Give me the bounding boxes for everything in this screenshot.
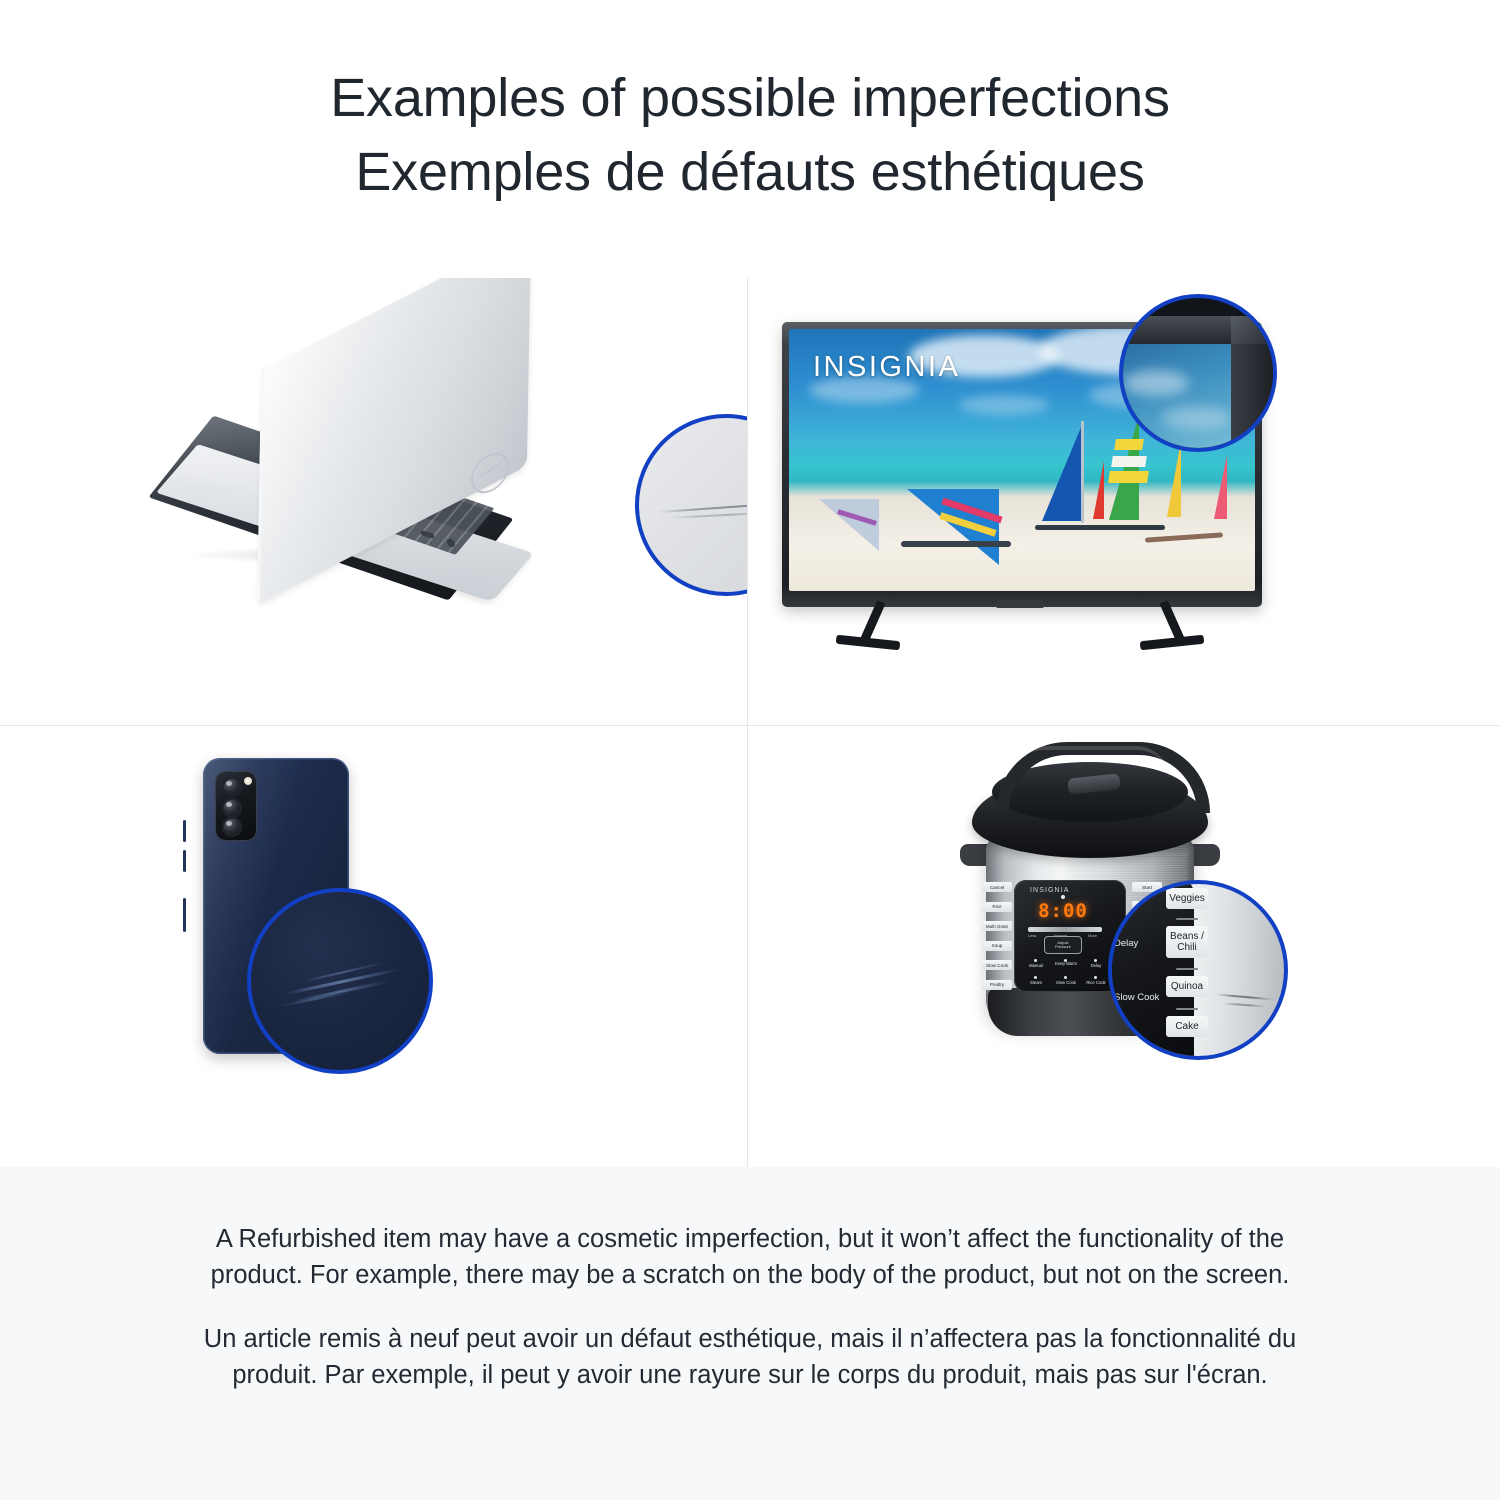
sail-icon [1093,461,1104,519]
boat-hull [901,541,1011,547]
camera-lens-icon [222,777,242,797]
cooker-panel-key[interactable]: Keep Warm [1054,962,1078,967]
cooker-indicator-dot [1034,976,1037,979]
phone-volume-button [183,820,187,842]
pressure-cooker-graphic: Cancel Rice Multi Grain Soup Slow Cook P… [948,740,1308,1110]
grid-cell-laptop [0,278,748,726]
cooker-scratch [1216,993,1274,1000]
sail-stripe [1108,471,1149,483]
television-graphic: INSIGNIA [764,300,1264,680]
camera-lens-icon [222,798,242,818]
cooker-handle-highlight [1010,746,1170,780]
page-title-fr: Exemples de défauts esthétiques [355,135,1144,209]
cloud-icon [959,395,1049,415]
tv-brand-label: INSIGNIA [813,351,960,384]
cloud-icon [1123,370,1189,396]
zoom-cooker-key: Quinoa [1166,976,1208,997]
camera-lens-icon [222,817,242,837]
cooker-slider-label: More [1088,933,1097,938]
cooker-brand-label: INSIGNIA [1030,887,1070,894]
product-grid: INSIGNIA [0,278,1500,1167]
cooker-scratch [1224,1003,1266,1008]
cooker-key[interactable]: Multi Grain [982,921,1012,931]
zoom-cooker-key: Cake [1166,1016,1208,1037]
phone-power-button [183,898,187,932]
cooker-left-key-column[interactable]: Cancel Rice Multi Grain Soup Slow Cook P… [982,882,1012,990]
grid-cell-phone [0,726,748,1167]
laptop-graphic [175,306,595,596]
television-illustration: INSIGNIA [748,278,1500,725]
zoom-key-separator [1176,1008,1198,1010]
pressure-cooker-illustration: Cancel Rice Multi Grain Soup Slow Cook P… [748,726,1500,1167]
sail-icon [819,499,879,551]
zoom-cooker-left-label: Delay [1114,938,1138,949]
cooker-indicator-dot [1094,959,1097,962]
header: Examples of possible imperfections Exemp… [0,0,1500,270]
sail-icon [1214,455,1227,519]
zoom-cooker-left-label: Slow Cook [1114,992,1159,1003]
boat-hull [1035,525,1165,530]
tv-stand-foot [836,635,901,651]
cooker-status-led [1061,895,1065,899]
phone-volume-button [183,850,187,872]
page-title-en: Examples of possible imperfections [330,61,1170,135]
loupe-phone [247,888,433,1074]
cooker-key[interactable]: Poultry [982,980,1012,990]
loupe-television [1119,294,1277,452]
footer-paragraph-en: A Refurbished item may have a cosmetic i… [193,1221,1308,1293]
zoom-cooker-key: Beans / Chili [1166,926,1208,958]
zoom-key-separator [1176,918,1198,920]
cooker-panel-key[interactable]: Steam [1024,981,1048,986]
mast-icon [1081,421,1084,523]
cooker-panel-key[interactable]: Slow Cook [1054,981,1078,986]
phone-camera-module [215,771,257,841]
cooker-key[interactable]: Cancel [982,882,1012,892]
footer-description: A Refurbished item may have a cosmetic i… [0,1167,1500,1500]
phone-graphic [185,748,475,1118]
footer-paragraph-fr: Un article remis à neuf peut avoir un dé… [193,1321,1308,1393]
cooker-key[interactable]: Soup [982,941,1012,951]
sail-icon [1167,441,1181,517]
cooker-indicator-dot [1064,976,1067,979]
boat-hull [1145,532,1223,542]
zoom-key-separator [1176,968,1198,970]
sail-stripe [1111,456,1147,467]
grid-cell-pressure-cooker: Cancel Rice Multi Grain Soup Slow Cook P… [748,726,1500,1167]
cooker-slider-label: Less [1028,933,1036,938]
cloud-icon [1161,406,1231,430]
laptop-scratch-primary [657,501,748,513]
camera-flash-icon [244,777,252,785]
cooker-panel-key[interactable]: Manual [1024,964,1048,969]
loupe-laptop [635,414,748,596]
phone-illustration [0,726,747,1167]
laptop-illustration [0,278,747,725]
tv-logo-bar [996,600,1044,608]
tv-stand-foot [1140,635,1205,651]
laptop-scratch-secondary [669,511,748,519]
zoom-bezel-corner-defect [1231,316,1277,344]
infographic-page: Examples of possible imperfections Exemp… [0,0,1500,1500]
cooker-key[interactable]: Rice [982,902,1012,912]
zoom-cooker-key: Veggies [1166,888,1208,909]
cooker-panel-key[interactable]: Delay [1084,964,1108,969]
cooker-panel-key[interactable]: Rice Cook [1084,981,1108,986]
cooker-key[interactable]: Slow Cook [982,960,1012,970]
grid-cell-television: INSIGNIA [748,278,1500,726]
zoom-screen-area [1119,344,1231,452]
loupe-pressure-cooker: Veggies Beans / Chili Quinoa Cake Delay … [1108,880,1288,1060]
cooker-indicator-dot [1034,959,1037,962]
cooker-timer-display: 8:00 [1034,900,1092,922]
cooker-pressure-slider[interactable] [1028,927,1102,932]
sail-icon [1042,425,1082,521]
cooker-adjust-button[interactable]: AdjustPressure [1044,936,1082,954]
cooker-indicator-dot [1094,976,1097,979]
